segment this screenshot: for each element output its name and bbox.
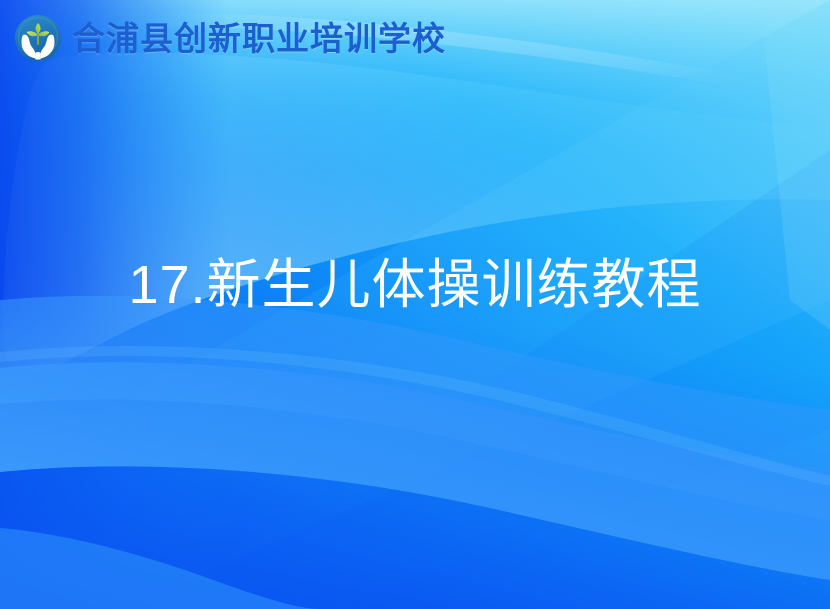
school-logo: [14, 14, 62, 62]
logo-palm-center: [35, 52, 41, 60]
slide-title: 17.新生儿体操训练教程: [128, 256, 701, 315]
sprout-in-hands-logo-icon: [14, 14, 62, 62]
slide-header: 合浦县创新职业培训学校: [0, 0, 830, 76]
title-slide: 合浦县创新职业培训学校 17.新生儿体操训练教程: [0, 0, 830, 609]
school-name-text: 合浦县创新职业培训学校: [72, 22, 446, 55]
title-area: 17.新生儿体操训练教程: [0, 236, 830, 336]
